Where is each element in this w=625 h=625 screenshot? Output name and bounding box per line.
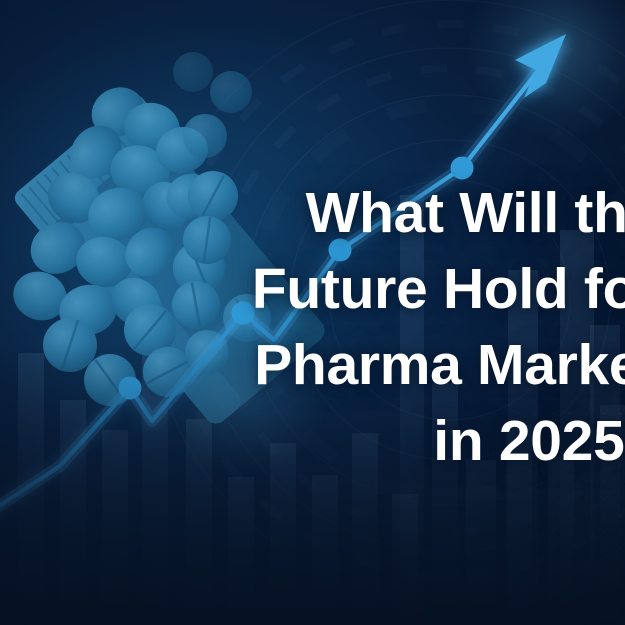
bar — [312, 475, 338, 625]
bar — [228, 477, 254, 625]
hero-banner: What Will the Future Hold for Pharma Mar… — [0, 0, 625, 625]
up-right-arrow-icon — [515, 34, 566, 98]
headline-line-1: What Will the — [0, 175, 625, 251]
headline-line-2: Future Hold for — [0, 251, 625, 327]
bar — [392, 494, 418, 625]
headline: What Will the Future Hold for Pharma Mar… — [0, 175, 625, 479]
headline-line-3: Pharma Market — [0, 327, 625, 403]
headline-line-4: in 2025? — [0, 403, 625, 479]
